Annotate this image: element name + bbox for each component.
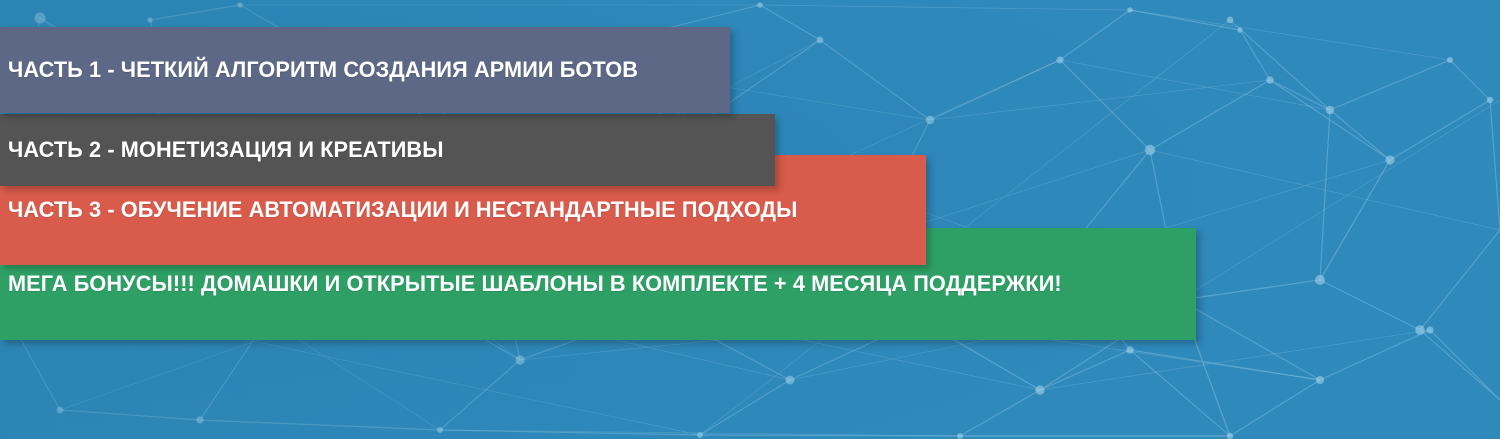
bar-part-1-label: ЧАСТЬ 1 - ЧЕТКИЙ АЛГОРИТМ СОЗДАНИЯ АРМИИ… — [8, 59, 638, 82]
bar-part-2: ЧАСТЬ 2 - МОНЕТИЗАЦИЯ И КРЕАТИВЫ — [0, 114, 775, 186]
bar-part-1: ЧАСТЬ 1 - ЧЕТКИЙ АЛГОРИТМ СОЗДАНИЯ АРМИИ… — [0, 27, 730, 113]
bar-part-2-label: ЧАСТЬ 2 - МОНЕТИЗАЦИЯ И КРЕАТИВЫ — [8, 139, 444, 162]
bar-part-3-label: ЧАСТЬ 3 - ОБУЧЕНИЕ АВТОМАТИЗАЦИИ И НЕСТА… — [8, 199, 797, 222]
bar-bonus-label: МЕГА БОНУСЫ!!! ДОМАШКИ И ОТКРЫТЫЕ ШАБЛОН… — [8, 273, 1062, 296]
slide-canvas: ЧАСТЬ 1 - ЧЕТКИЙ АЛГОРИТМ СОЗДАНИЯ АРМИИ… — [0, 0, 1500, 439]
